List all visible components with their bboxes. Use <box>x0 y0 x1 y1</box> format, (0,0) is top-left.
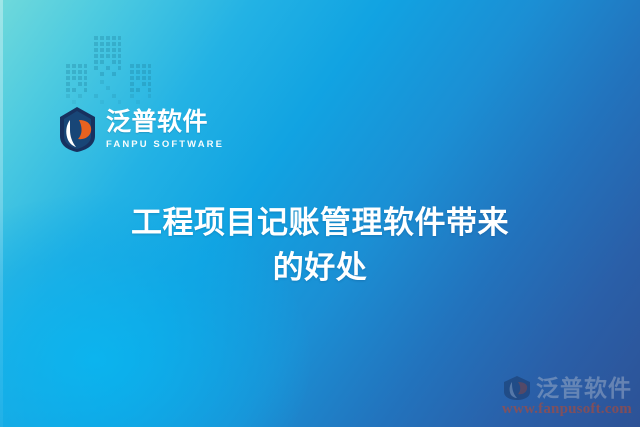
brand-name-cn: 泛普软件 <box>106 110 224 135</box>
page-title-line-1: 工程项目记账管理软件带来 <box>0 200 640 245</box>
pixel-skyline-mosaic-icon <box>60 34 172 110</box>
brand-logo: 泛普软件 FANPU SOFTWARE <box>57 106 224 153</box>
brand-name-en: FANPU SOFTWARE <box>106 140 224 150</box>
watermark-url: www.fanpusoft.com <box>502 402 632 417</box>
page-title: 工程项目记账管理软件带来 的好处 <box>0 200 640 290</box>
watermark-brand-name: 泛普软件 <box>536 377 632 400</box>
brand-logo-text: 泛普软件 FANPU SOFTWARE <box>106 110 224 150</box>
page-title-line-2: 的好处 <box>0 245 640 290</box>
fanpu-logo-mark-icon <box>57 106 99 153</box>
fanpu-logo-mark-watermark-icon <box>502 375 532 401</box>
promo-banner: 泛普软件 FANPU SOFTWARE 工程项目记账管理软件带来 的好处 泛普软… <box>0 0 640 427</box>
watermark-logo-row: 泛普软件 <box>502 375 632 401</box>
watermark: 泛普软件 www.fanpusoft.com <box>502 375 632 417</box>
